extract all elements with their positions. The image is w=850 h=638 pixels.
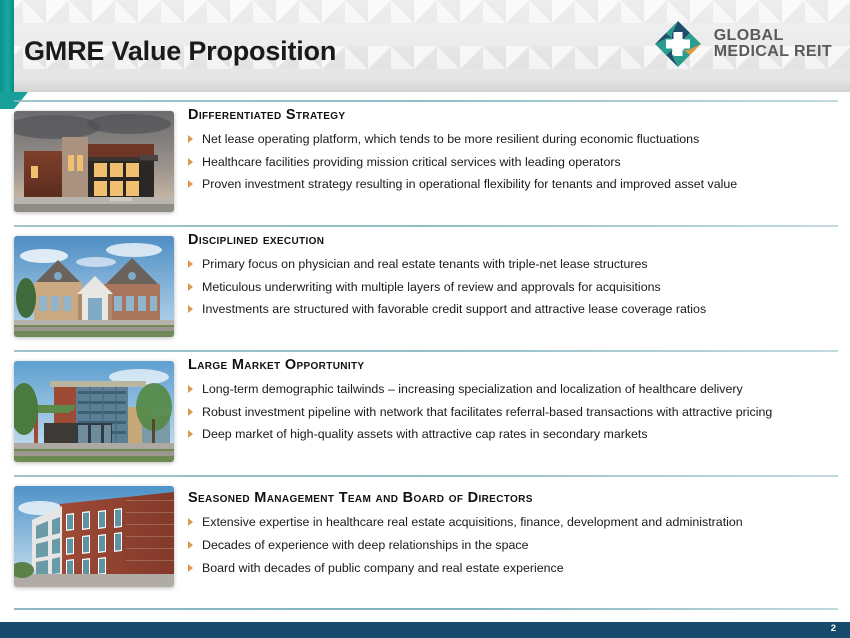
list-item: Extensive expertise in healthcare real e… [188, 514, 840, 530]
triangle-bullet-icon [188, 180, 193, 188]
bullet-text: Deep market of high-quality assets with … [202, 427, 648, 441]
list-item: Deep market of high-quality assets with … [188, 426, 840, 442]
bullet-text: Meticulous underwriting with multiple la… [202, 280, 661, 294]
list-item: Investments are structured with favorabl… [188, 301, 840, 317]
triangle-bullet-icon [188, 518, 193, 526]
section-title: Large Market Opportunity [188, 358, 840, 374]
header-shadow [0, 80, 850, 92]
triangle-bullet-icon [188, 260, 193, 268]
logo-line-1: GLOBAL [714, 28, 832, 44]
bullet-list: Primary focus on physician and real esta… [188, 256, 840, 317]
bullet-text: Net lease operating platform, which tend… [202, 132, 699, 146]
company-logo: GLOBAL MEDICAL REIT [653, 18, 832, 70]
triangle-bullet-icon [188, 158, 193, 166]
bullet-list: Long-term demographic tailwinds – increa… [188, 381, 840, 442]
list-item: Primary focus on physician and real esta… [188, 256, 840, 272]
section-title: Disciplined execution [188, 233, 840, 249]
bullet-text: Decades of experience with deep relation… [202, 538, 529, 552]
list-item: Decades of experience with deep relation… [188, 537, 840, 553]
slide-content: Differentiated Strategy Net lease operat… [0, 100, 850, 600]
photo-gabled-brick-medical-clinic-with-columned-entry [14, 236, 174, 337]
triangle-bullet-icon [188, 430, 193, 438]
section-differentiated-strategy: Differentiated Strategy Net lease operat… [0, 100, 850, 225]
slide-header: GMRE Value Proposition [0, 0, 850, 92]
left-accent-bar [0, 0, 14, 92]
list-item: Board with decades of public company and… [188, 560, 840, 576]
section-body: Disciplined execution Primary focus on p… [188, 233, 840, 324]
section-large-market-opportunity: Large Market Opportunity Long-term demog… [0, 350, 850, 475]
section-disciplined-execution: Disciplined execution Primary focus on p… [0, 225, 850, 350]
bullet-text: Proven investment strategy resulting in … [202, 177, 737, 191]
logo-line-2: MEDICAL REIT [714, 44, 832, 60]
section-title: Differentiated Strategy [188, 108, 840, 124]
bullet-text: Investments are structured with favorabl… [202, 302, 706, 316]
list-item: Meticulous underwriting with multiple la… [188, 279, 840, 295]
section-divider [14, 475, 838, 477]
triangle-bullet-icon [188, 305, 193, 313]
logo-wordmark: GLOBAL MEDICAL REIT [714, 28, 832, 61]
section-seasoned-management-team: Seasoned Management Team and Board of Di… [0, 475, 850, 600]
photo-red-brick-three-story-building-with-teal-windows [14, 486, 174, 587]
list-item: Proven investment strategy resulting in … [188, 176, 840, 192]
list-item: Robust investment pipeline with network … [188, 404, 840, 420]
section-body: Differentiated Strategy Net lease operat… [188, 108, 840, 199]
triangle-bullet-icon [188, 564, 193, 572]
page-title: GMRE Value Proposition [24, 36, 336, 67]
triangle-bullet-icon [188, 135, 193, 143]
footer-divider [14, 608, 838, 610]
slide-footer: 2 [0, 622, 850, 638]
section-divider [14, 225, 838, 227]
triangle-bullet-icon [188, 283, 193, 291]
section-divider [14, 100, 838, 102]
list-item: Healthcare facilities providing mission … [188, 154, 840, 170]
section-divider [14, 350, 838, 352]
list-item: Net lease operating platform, which tend… [188, 131, 840, 147]
bullet-list: Net lease operating platform, which tend… [188, 131, 840, 192]
bullet-text: Robust investment pipeline with network … [202, 405, 772, 419]
bullet-text: Primary focus on physician and real esta… [202, 257, 648, 271]
photo-multistory-brick-and-glass-medical-building-with-green-canopy [14, 361, 174, 462]
triangle-bullet-icon [188, 408, 193, 416]
triangle-bullet-icon [188, 541, 193, 549]
page-number: 2 [831, 623, 836, 634]
bullet-list: Extensive expertise in healthcare real e… [188, 514, 840, 576]
bullet-text: Long-term demographic tailwinds – increa… [202, 382, 743, 396]
bullet-text: Board with decades of public company and… [202, 561, 564, 575]
triangle-bullet-icon [188, 385, 193, 393]
list-item: Long-term demographic tailwinds – increa… [188, 381, 840, 397]
section-body: Seasoned Management Team and Board of Di… [188, 491, 840, 583]
section-title: Seasoned Management Team and Board of Di… [188, 491, 840, 507]
photo-modern-wood-clad-medical-office-at-dusk [14, 111, 174, 212]
slide: GMRE Value Proposition [0, 0, 850, 638]
global-medical-reit-cross-icon [653, 19, 703, 69]
bullet-text: Extensive expertise in healthcare real e… [202, 515, 743, 529]
section-body: Large Market Opportunity Long-term demog… [188, 358, 840, 449]
bullet-text: Healthcare facilities providing mission … [202, 155, 621, 169]
